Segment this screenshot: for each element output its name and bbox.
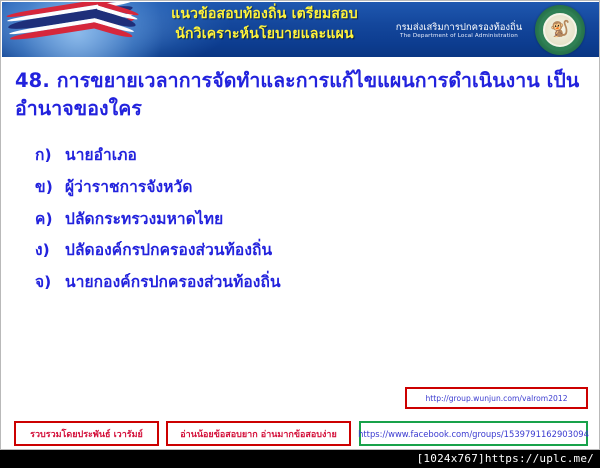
banner-title-line2: นักวิเคราะห์นโยบายและแผน [152,25,377,45]
answer-choice-a[interactable]: ก) นายอำเภอ [31,147,511,165]
choice-key-e: จ) [31,274,65,292]
facebook-url-box[interactable]: https://www.facebook.com/groups/15397911… [359,421,588,446]
department-block: กรมส่งเสริมการปกครองท้องถิ่น The Departm… [385,22,533,40]
header-banner: แนวข้อสอบท้องถิ่น เตรียมสอบ นักวิเคราะห์… [2,2,600,57]
group-url-box[interactable]: http://group.wunjun.com/valrom2012 [405,387,588,409]
choice-text-a: นายอำเภอ [65,147,511,165]
choice-key-b: ข) [31,179,65,197]
banner-title-line1: แนวข้อสอบท้องถิ่น เตรียมสอบ [152,5,377,25]
slide-frame: แนวข้อสอบท้องถิ่น เตรียมสอบ นักวิเคราะห์… [0,0,600,450]
question-text: 48. การขยายเวลาการจัดทำและการแก้ไขแผนการ… [15,67,587,124]
choice-key-d: ง) [31,242,65,260]
motto-box: อ่านน้อยข้อสอบยาก อ่านมากข้อสอบง่าย [166,421,351,446]
seal-lion-figure-icon: 🐒 [548,20,572,38]
choice-key-c: ค) [31,211,65,229]
answer-choice-list: ก) นายอำเภอ ข) ผู้ว่าราชการจังหวัด ค) ปล… [31,147,511,306]
choice-text-b: ผู้ว่าราชการจังหวัด [65,179,511,197]
department-name-thai: กรมส่งเสริมการปกครองท้องถิ่น [385,22,533,33]
choice-text-e: นายกองค์กรปกครองส่วนท้องถิ่น [65,274,511,292]
answer-choice-b[interactable]: ข) ผู้ว่าราชการจังหวัด [31,179,511,197]
choice-text-c: ปลัดกระทรวงมหาดไทย [65,211,511,229]
department-name-english: The Department of Local Administration [385,33,533,40]
status-bar-text: [1024x767]https://uplc.me/ [417,450,594,468]
banner-title-block: แนวข้อสอบท้องถิ่น เตรียมสอบ นักวิเคราะห์… [152,5,377,45]
government-seal-icon: 🐒 [535,5,585,55]
answer-choice-c[interactable]: ค) ปลัดกระทรวงมหาดไทย [31,211,511,229]
choice-key-a: ก) [31,147,65,165]
status-bar: [1024x767]https://uplc.me/ [0,450,600,468]
answer-choice-d[interactable]: ง) ปลัดองค์กรปกครองส่วนท้องถิ่น [31,242,511,260]
answer-choice-e[interactable]: จ) นายกองค์กรปกครองส่วนท้องถิ่น [31,274,511,292]
screenshot-page: แนวข้อสอบท้องถิ่น เตรียมสอบ นักวิเคราะห์… [0,0,600,468]
credit-box: รวบรวมโดยประพันธ์ เวารัมย์ [14,421,159,446]
choice-text-d: ปลัดองค์กรปกครองส่วนท้องถิ่น [65,242,511,260]
